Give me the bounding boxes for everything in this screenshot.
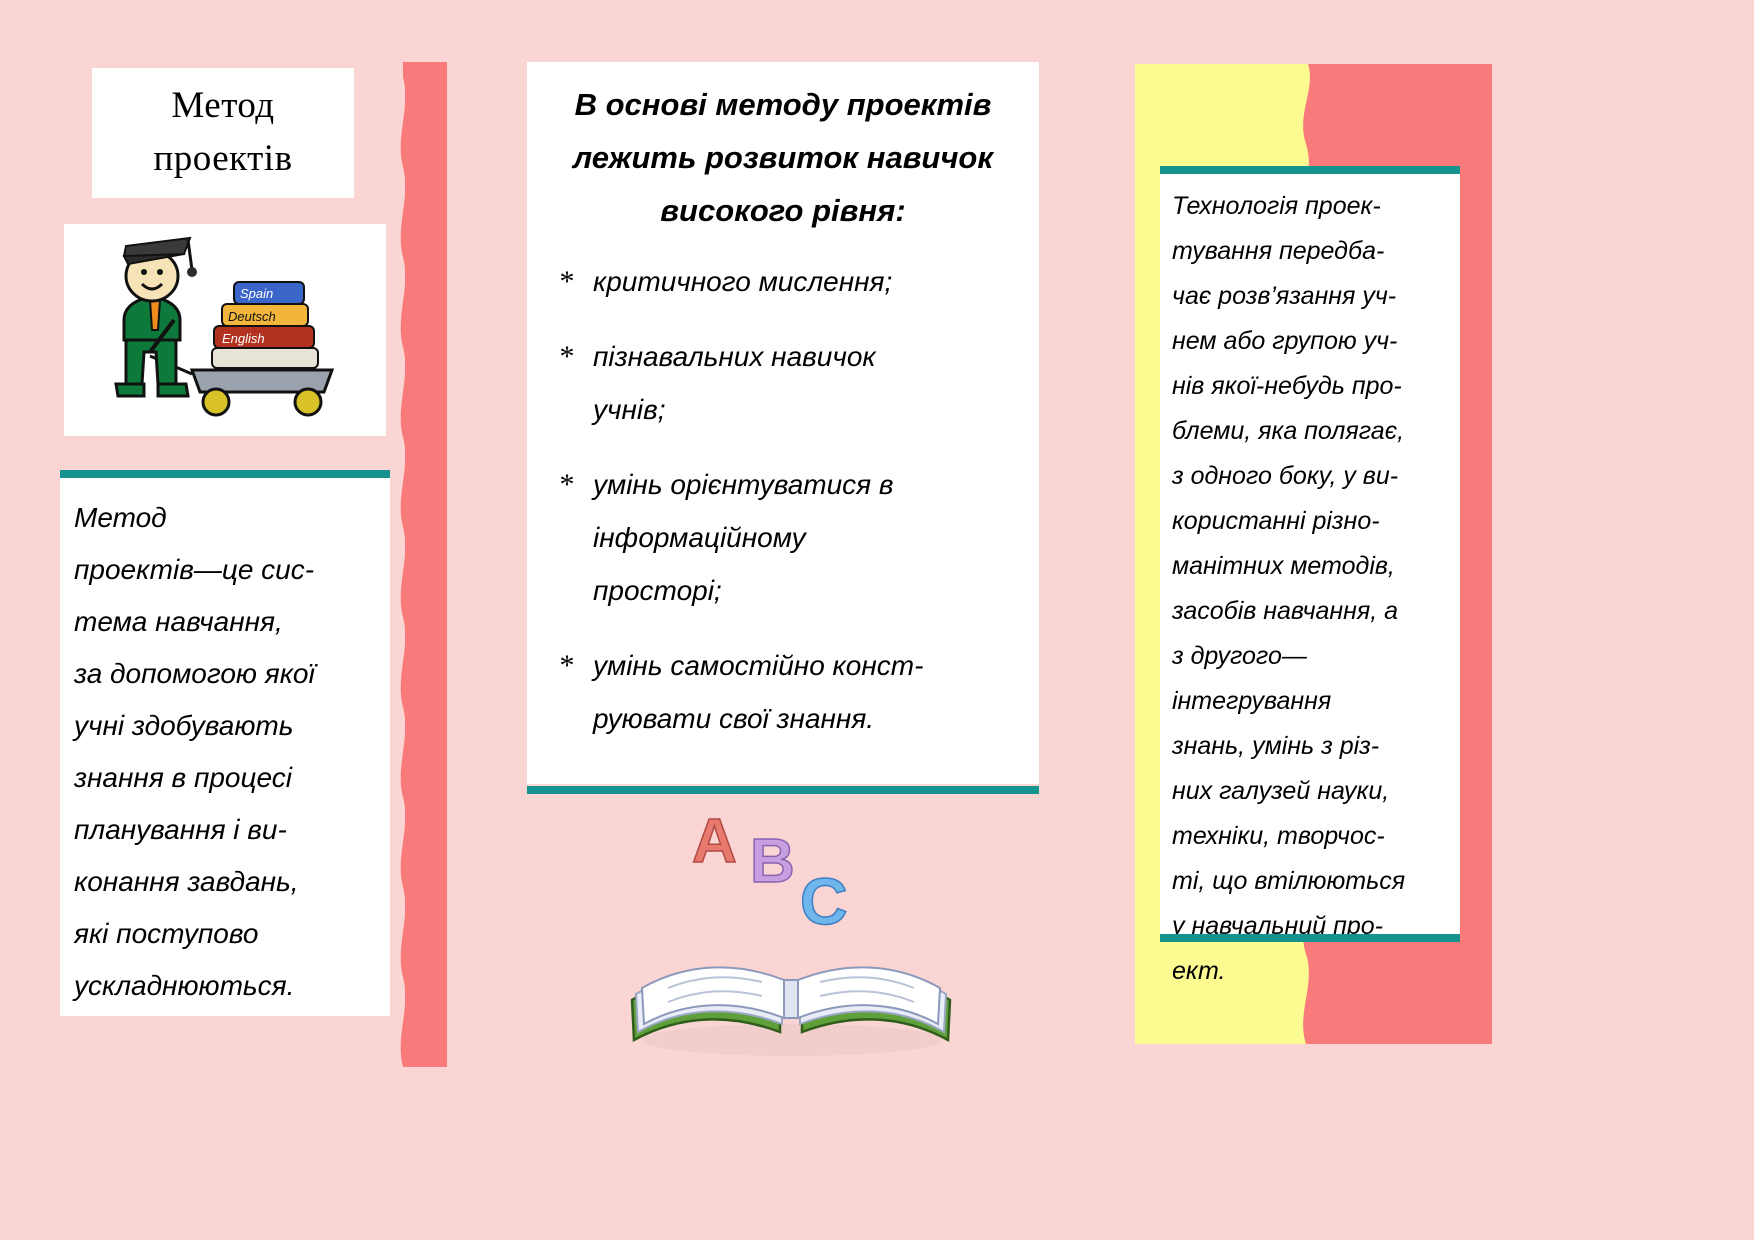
svg-text:C: C <box>800 864 848 938</box>
right-text-line: користанні різно- <box>1172 499 1452 544</box>
right-text-line: нів якої-небудь про- <box>1172 364 1452 409</box>
list-item-text: пізнавальних навичок учнів; <box>593 330 876 436</box>
right-text-line: манітних методів, <box>1172 544 1452 589</box>
list-item-line: учнів; <box>593 383 876 436</box>
list-item: * пізнавальних навичок учнів; <box>541 330 1029 436</box>
teal-rule-top-right <box>1160 166 1460 174</box>
graduate-pulling-wagon-of-books-icon: Spain Deutsch English <box>64 224 386 436</box>
left-text-line: Метод <box>74 492 378 544</box>
right-text-line: з другого— <box>1172 634 1452 679</box>
right-text-line: інтегрування <box>1172 679 1452 724</box>
list-item-text: умінь самостійно конст- руювати свої зна… <box>593 639 923 745</box>
teal-rule-bottom-right <box>1160 934 1460 942</box>
list-item-text: умінь орієнтуватися в інформаційному про… <box>593 458 894 617</box>
right-text-line: у навчальний про- <box>1172 904 1452 949</box>
left-text-line: учні здобувають <box>74 700 378 752</box>
illustration-card-graduate: Spain Deutsch English <box>64 224 386 436</box>
left-text-line: знання в процесі <box>74 752 378 804</box>
title-card: Метод проектів <box>92 68 354 198</box>
svg-text:Spain: Spain <box>240 286 273 301</box>
teal-rule-top-left <box>60 470 390 478</box>
list-item-line: умінь самостійно конст- <box>593 639 923 692</box>
list-item-line: критичного мислення; <box>593 255 892 308</box>
list-item: * критичного мислення; <box>541 255 1029 308</box>
page-title-line-2: проектів <box>153 133 292 186</box>
left-text-line: ускладнюються. <box>74 960 378 1012</box>
left-text-line: конання завдань, <box>74 856 378 908</box>
left-body-text: Метод проектів—це сис- тема навчання, за… <box>60 492 390 1012</box>
list-item-line: інформаційному <box>593 511 894 564</box>
list-item-line: пізнавальних навичок <box>593 330 876 383</box>
left-body-text-card: Метод проектів—це сис- тема навчання, за… <box>60 470 390 1016</box>
open-book-with-abc-letters-icon: A B C <box>612 792 962 1060</box>
page-title-line-1: Метод <box>171 80 274 133</box>
asterisk-bullet-icon: * <box>541 458 593 511</box>
right-body-text: Технологія проек- тування передба- чає р… <box>1160 184 1460 994</box>
right-body-text-card: Технологія проек- тування передба- чає р… <box>1160 166 1460 942</box>
asterisk-bullet-icon: * <box>541 255 593 308</box>
right-text-line: нем або групою уч- <box>1172 319 1452 364</box>
center-bullet-list: * критичного мислення; * пізнавальних на… <box>527 255 1039 745</box>
left-text-line: за допомогою якої <box>74 648 378 700</box>
left-text-line: які поступово <box>74 908 378 960</box>
right-text-line: ект. <box>1172 949 1452 994</box>
right-text-line: Технологія проек- <box>1172 184 1452 229</box>
list-item: * умінь самостійно конст- руювати свої з… <box>541 639 1029 745</box>
right-text-line: чає розв’язання уч- <box>1172 274 1452 319</box>
center-heading-line: В основі методу проектів <box>545 78 1021 131</box>
right-text-line: ті, що втілюються <box>1172 859 1452 904</box>
list-item: * умінь орієнтуватися в інформаційному п… <box>541 458 1029 617</box>
list-item-text: критичного мислення; <box>593 255 892 308</box>
asterisk-bullet-icon: * <box>541 639 593 692</box>
center-heading-line: високого рівня: <box>545 184 1021 237</box>
svg-text:Deutsch: Deutsch <box>228 309 276 324</box>
right-text-line: них галузей науки, <box>1172 769 1452 814</box>
right-text-line: знань, умінь з різ- <box>1172 724 1452 769</box>
brochure-page: Метод проектів Spain Deutsch English <box>0 0 1754 1240</box>
right-text-line: засобів навчання, а <box>1172 589 1452 634</box>
asterisk-bullet-icon: * <box>541 330 593 383</box>
left-text-line: тема навчання, <box>74 596 378 648</box>
left-text-line: проектів—це сис- <box>74 544 378 596</box>
center-content-card: В основі методу проектів лежить розвиток… <box>527 62 1039 784</box>
svg-text:A: A <box>692 807 737 876</box>
list-item-line: просторі; <box>593 564 894 617</box>
svg-text:B: B <box>750 827 795 896</box>
list-item-line: умінь орієнтуватися в <box>593 458 894 511</box>
right-text-line: з одного боку, у ви- <box>1172 454 1452 499</box>
right-text-line: блеми, яка полягає, <box>1172 409 1452 454</box>
divider-strip-coral <box>405 62 447 1067</box>
center-heading-line: лежить розвиток навичок <box>545 131 1021 184</box>
illustration-abc-book: A B C <box>612 792 962 1060</box>
list-item-line: руювати свої знання. <box>593 692 923 745</box>
left-text-line: планування і ви- <box>74 804 378 856</box>
center-heading: В основі методу проектів лежить розвиток… <box>527 62 1039 241</box>
right-text-line: тування передба- <box>1172 229 1452 274</box>
svg-text:English: English <box>222 331 265 346</box>
right-text-line: техніки, творчос- <box>1172 814 1452 859</box>
